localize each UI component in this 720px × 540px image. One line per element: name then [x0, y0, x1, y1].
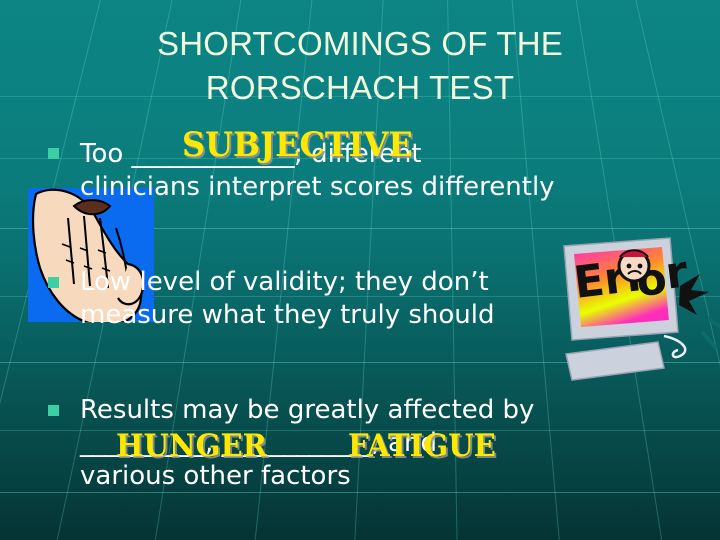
answer-word-fatigue: FATIGUE [348, 428, 496, 464]
answer-word-subjective: SUBJECTIVE [182, 125, 413, 165]
square-bullet-icon [48, 148, 59, 159]
slide-title: SHORTCOMINGS OF THE RORSCHACH TEST [0, 22, 720, 110]
bullet-item-2: Low level of validity; they don’t measur… [46, 266, 696, 332]
bullet-2-text: Low level of validity; they don’t measur… [80, 266, 696, 332]
presentation-slide: SHORTCOMINGS OF THE RORSCHACH TEST [0, 0, 720, 540]
bullet-2-line-2: measure what they truly should [80, 299, 696, 332]
square-bullet-icon [48, 405, 59, 416]
title-line-2: RORSCHACH TEST [0, 66, 720, 110]
bullet-3-line-3: various other factors [80, 460, 696, 493]
square-bullet-icon [48, 277, 59, 288]
bullet-3-line-1: Results may be greatly affected by [80, 394, 696, 427]
bullet-1-lead: Too [80, 139, 123, 169]
bullet-2-line-1: Low level of validity; they don’t [80, 266, 696, 299]
title-line-1: SHORTCOMINGS OF THE [0, 22, 720, 66]
answer-word-hunger: HUNGER [116, 428, 267, 464]
bullet-1-line-2: clinicians interpret scores differently [80, 171, 696, 204]
